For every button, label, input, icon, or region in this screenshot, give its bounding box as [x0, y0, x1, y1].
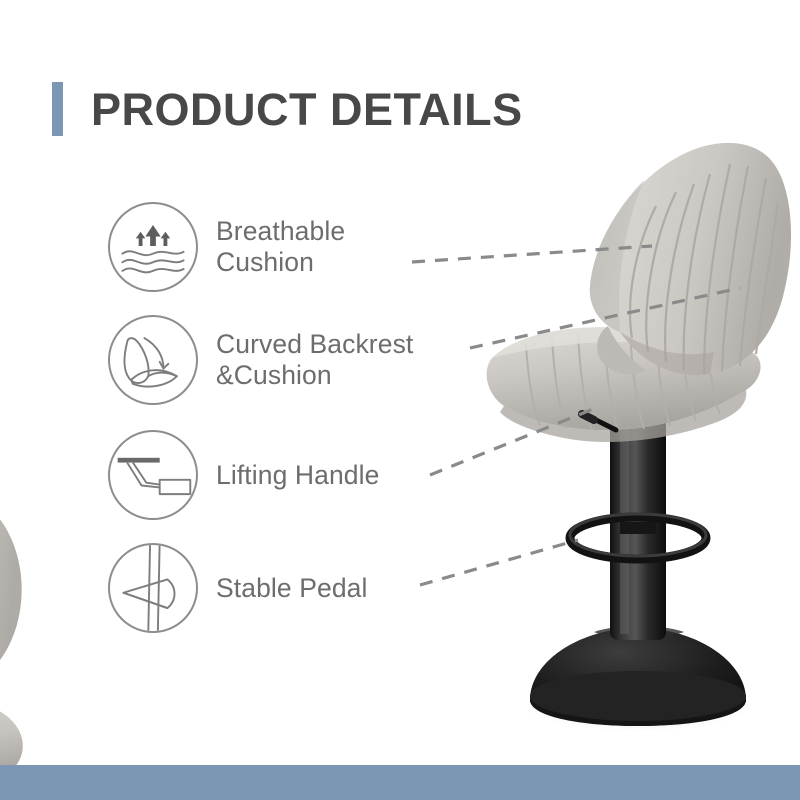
- title-accent-bar: [52, 82, 63, 136]
- header: PRODUCT DETAILS: [52, 82, 523, 136]
- curved-backrest-icon: [108, 315, 198, 405]
- feature-row[interactable]: Lifting Handle: [108, 430, 379, 520]
- feature-row[interactable]: Curved Backrest &Cushion: [108, 315, 413, 405]
- bottom-accent-band: [0, 765, 800, 800]
- stable-pedal-icon: [108, 543, 198, 633]
- feature-row[interactable]: Breathable Cushion: [108, 202, 345, 292]
- product-details-infographic: PRODUCT DETAILS: [0, 0, 800, 800]
- feature-label: Breathable Cushion: [216, 216, 345, 277]
- breathable-cushion-icon: [108, 202, 198, 292]
- feature-row[interactable]: Stable Pedal: [108, 543, 367, 633]
- feature-label: Lifting Handle: [216, 460, 379, 491]
- feature-label: Curved Backrest &Cushion: [216, 329, 413, 390]
- adjustable-swivel-bar-stool: [470, 130, 800, 740]
- page-title: PRODUCT DETAILS: [91, 87, 523, 132]
- feature-label: Stable Pedal: [216, 573, 367, 604]
- lifting-handle-icon: [108, 430, 198, 520]
